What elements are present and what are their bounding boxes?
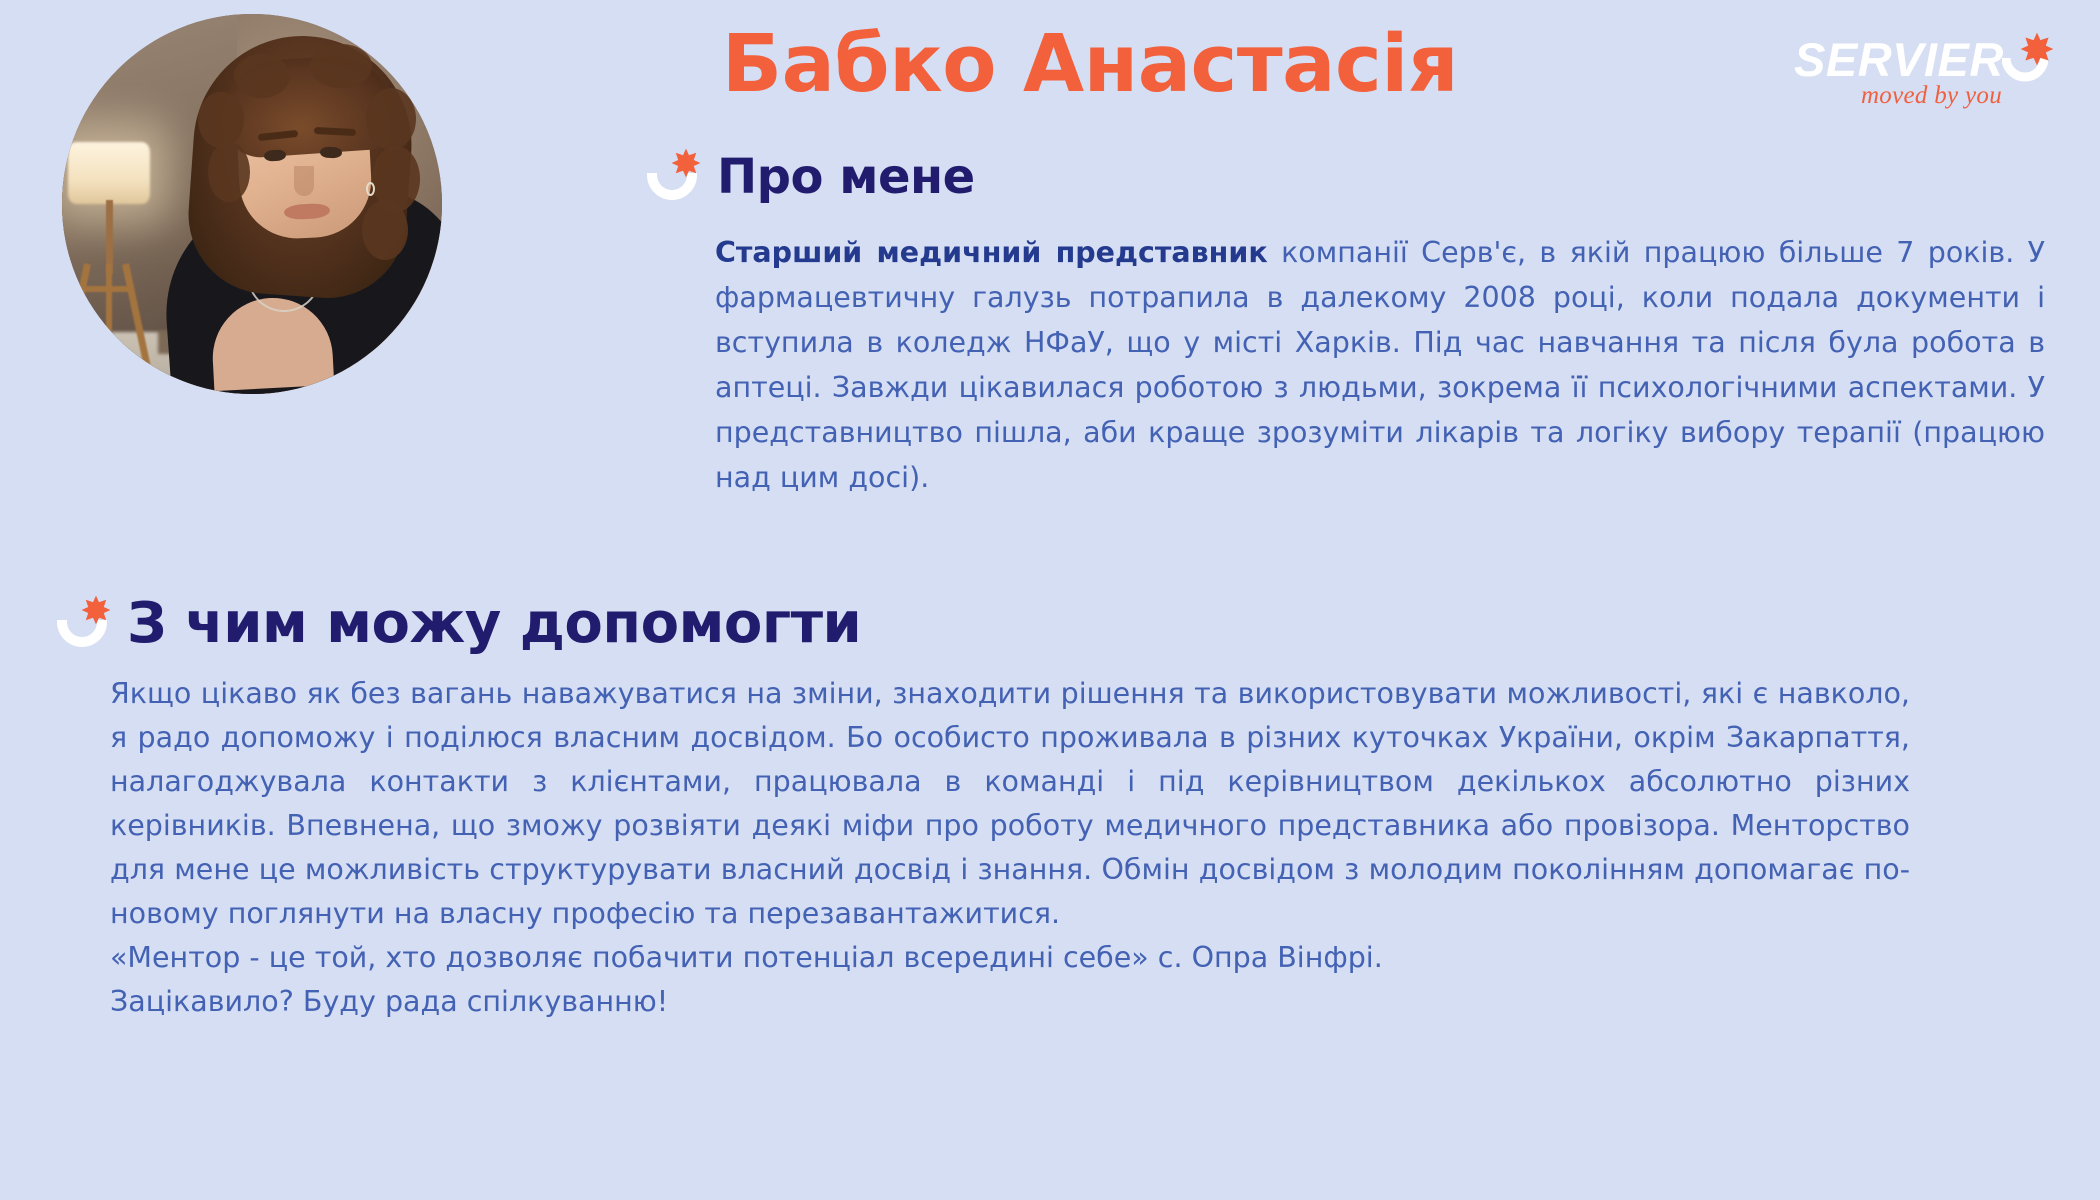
page-title: Бабко Анастасія bbox=[500, 22, 1680, 106]
photo-hair-curl bbox=[366, 88, 416, 150]
about-lead-bold: Старший медичний представник bbox=[715, 236, 1268, 269]
about-body-text: компанії Серв'є, в якій працюю більше 7 … bbox=[715, 236, 2045, 494]
photo-hair-curl bbox=[234, 54, 290, 98]
photo-hair-curl bbox=[362, 200, 408, 260]
photo-lamp-pole bbox=[106, 200, 113, 274]
section-about-body: Старший медичний представник компанії Се… bbox=[715, 230, 2045, 500]
help-closing-line: Зацікавило? Буду рада спілкуванню! bbox=[110, 980, 1910, 1024]
section-help-heading: З чим можу допомогти bbox=[55, 592, 2055, 656]
photo-hair-curl bbox=[208, 142, 250, 202]
section-how-i-can-help: З чим можу допомогти Якщо цікаво як без … bbox=[55, 592, 2055, 1024]
servier-logo: SERVIER moved by you bbox=[1794, 34, 2054, 110]
section-help-body: Якщо цікаво як без вагань наважуватися н… bbox=[110, 672, 1910, 1024]
section-about-heading: Про мене bbox=[645, 146, 2045, 208]
section-about-me: Про мене Старший медичний представник ко… bbox=[645, 146, 2045, 500]
starburst-icon bbox=[2020, 32, 2054, 66]
section-about-title: Про мене bbox=[717, 149, 975, 205]
starburst-icon bbox=[81, 595, 111, 625]
crescent-star-icon bbox=[55, 593, 117, 655]
logo-wordmark-row: SERVIER bbox=[1794, 34, 2054, 86]
help-quote-line: «Ментор - це той, хто дозволяє побачити … bbox=[110, 936, 1910, 980]
help-paragraph-main: Якщо цікаво як без вагань наважуватися н… bbox=[110, 672, 1910, 936]
section-help-title: З чим можу допомогти bbox=[127, 592, 861, 656]
crescent-star-icon bbox=[645, 146, 707, 208]
photo-lamp-shade-icon bbox=[68, 142, 150, 204]
photo-hair-curl bbox=[198, 92, 244, 148]
photo-earring bbox=[366, 182, 375, 196]
photo-hair-curl bbox=[310, 44, 372, 88]
avatar bbox=[62, 14, 442, 394]
photo-eye bbox=[320, 147, 342, 159]
photo-nose bbox=[294, 166, 314, 196]
portrait-photo bbox=[62, 14, 442, 394]
starburst-icon bbox=[671, 148, 701, 178]
photo-lamp-leg bbox=[106, 264, 112, 360]
